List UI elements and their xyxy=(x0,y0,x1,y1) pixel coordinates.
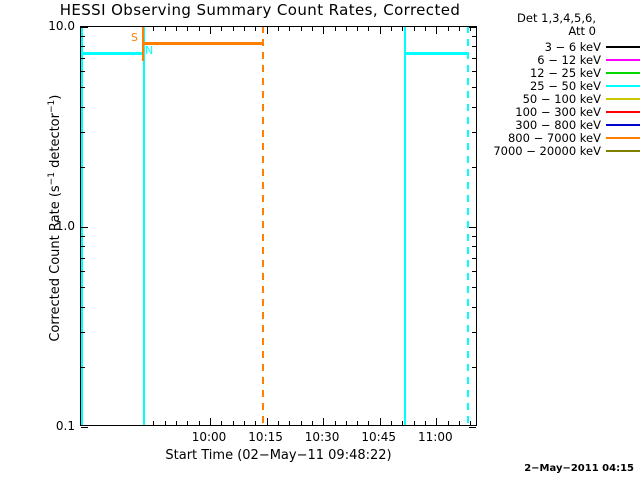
y-axis-minor-tick xyxy=(81,287,85,288)
y-axis-minor-tick xyxy=(81,271,85,272)
legend-entry: 300 − 800 keV xyxy=(484,118,640,131)
x-axis-minor-tick xyxy=(176,27,177,31)
y-axis-major-tick xyxy=(81,27,88,28)
x-axis-minor-tick xyxy=(448,421,449,425)
x-axis-minor-tick xyxy=(278,421,279,425)
x-axis-minor-tick xyxy=(414,27,415,31)
x-axis-major-tick xyxy=(323,418,324,425)
y-axis-minor-tick xyxy=(472,332,476,333)
x-axis-minor-tick xyxy=(402,421,403,425)
y-axis-minor-tick xyxy=(472,236,476,237)
y-axis-minor-tick xyxy=(81,36,85,37)
x-axis-minor-tick xyxy=(368,27,369,31)
legend-entry-label: 7000 − 20000 keV xyxy=(493,144,606,158)
x-axis-minor-tick xyxy=(187,421,188,425)
x-axis-major-tick xyxy=(323,27,324,34)
x-axis-major-tick xyxy=(267,27,268,34)
legend-attenuator: Att 0 xyxy=(484,25,640,38)
y-axis-title: Corrected Count Rate (s−1 detector−1) xyxy=(47,18,63,418)
x-axis-minor-tick xyxy=(448,27,449,31)
legend-entry-label: 100 − 300 keV xyxy=(515,105,606,119)
legend-entry-label: 25 − 50 keV xyxy=(530,79,606,93)
y-axis-minor-tick xyxy=(472,46,476,47)
x-tick-label: 10:45 xyxy=(361,430,396,444)
x-axis-major-tick xyxy=(436,418,437,425)
y-axis-major-tick xyxy=(469,27,476,28)
y-axis-minor-tick xyxy=(81,167,85,168)
y-axis-minor-tick xyxy=(472,258,476,259)
x-axis-minor-tick xyxy=(459,27,460,31)
x-axis-minor-tick xyxy=(289,27,290,31)
y-axis-major-tick xyxy=(81,427,88,428)
y-axis-minor-tick xyxy=(81,367,85,368)
x-axis-minor-tick xyxy=(221,421,222,425)
y-axis-minor-tick xyxy=(472,107,476,108)
x-axis-minor-tick xyxy=(233,421,234,425)
legend-entry-label: 300 − 800 keV xyxy=(515,118,606,132)
legend-color-swatch xyxy=(606,72,640,74)
flag-s: S xyxy=(131,31,138,44)
x-axis-minor-tick xyxy=(165,421,166,425)
legend-entry-label: 50 − 100 keV xyxy=(523,92,606,106)
y-axis-minor-tick xyxy=(81,58,85,59)
flag-n: N xyxy=(145,44,153,57)
legend-entry: 50 − 100 keV xyxy=(484,92,640,105)
x-axis-minor-tick xyxy=(255,27,256,31)
x-axis-minor-tick xyxy=(153,421,154,425)
y-axis-minor-tick xyxy=(472,271,476,272)
x-axis-minor-tick xyxy=(176,421,177,425)
x-tick-label: 10:30 xyxy=(305,430,340,444)
legend-detectors: Det 1,3,4,5,6, xyxy=(484,12,640,25)
y-axis-minor-tick xyxy=(472,132,476,133)
x-axis-minor-tick xyxy=(165,27,166,31)
y-axis-minor-tick xyxy=(472,287,476,288)
legend-color-swatch xyxy=(606,150,640,152)
y-axis-title-mid: detector xyxy=(48,113,63,172)
plot-canvas: HESSI Observing Summary Count Rates, Cor… xyxy=(0,0,640,480)
legend-entry: 12 − 25 keV xyxy=(484,66,640,79)
y-axis-minor-tick xyxy=(81,236,85,237)
y-tick-label: 0.1 xyxy=(56,419,75,433)
x-axis-minor-tick xyxy=(278,27,279,31)
x-axis-minor-tick xyxy=(221,27,222,31)
y-axis-minor-tick xyxy=(472,36,476,37)
plot-frame xyxy=(80,26,477,426)
legend-entry-label: 800 − 7000 keV xyxy=(508,131,606,145)
x-axis-minor-tick xyxy=(312,27,313,31)
x-axis-minor-tick xyxy=(233,27,234,31)
x-axis-minor-tick xyxy=(402,27,403,31)
x-axis-minor-tick xyxy=(368,421,369,425)
x-axis-minor-tick xyxy=(459,421,460,425)
y-axis-minor-tick xyxy=(81,87,85,88)
x-axis-minor-tick xyxy=(391,27,392,31)
y-axis-minor-tick xyxy=(472,167,476,168)
x-axis-minor-tick xyxy=(187,27,188,31)
legend: Det 1,3,4,5,6, Att 0 3 − 6 keV6 − 12 keV… xyxy=(484,12,640,157)
y-axis-major-tick xyxy=(469,427,476,428)
x-axis-minor-tick xyxy=(335,421,336,425)
y-axis-minor-tick xyxy=(81,71,85,72)
y-axis-title-sup-2: −1 xyxy=(47,100,57,113)
x-axis-minor-tick xyxy=(335,27,336,31)
x-tick-label: 10:00 xyxy=(192,430,227,444)
x-axis-major-tick xyxy=(267,418,268,425)
y-axis-minor-tick xyxy=(472,71,476,72)
x-tick-label: 10:15 xyxy=(248,430,283,444)
x-axis-minor-tick xyxy=(391,421,392,425)
x-axis-minor-tick xyxy=(244,421,245,425)
y-axis-minor-tick xyxy=(81,332,85,333)
y-axis-minor-tick xyxy=(81,258,85,259)
x-axis-minor-tick xyxy=(312,421,313,425)
legend-color-swatch xyxy=(606,59,640,61)
x-axis-minor-tick xyxy=(289,421,290,425)
legend-entry-label: 6 − 12 keV xyxy=(537,53,606,67)
x-axis-minor-tick xyxy=(153,27,154,31)
x-axis-major-tick xyxy=(436,27,437,34)
x-axis-major-tick xyxy=(210,27,211,34)
y-axis-minor-tick xyxy=(472,307,476,308)
y-axis-minor-tick xyxy=(81,132,85,133)
x-axis-major-tick xyxy=(380,418,381,425)
x-axis-minor-tick xyxy=(425,421,426,425)
y-axis-minor-tick xyxy=(472,58,476,59)
legend-color-swatch xyxy=(606,46,640,48)
y-axis-major-tick xyxy=(81,227,88,228)
y-axis-minor-tick xyxy=(472,367,476,368)
y-axis-minor-tick xyxy=(81,307,85,308)
legend-color-swatch xyxy=(606,124,640,126)
render-timestamp: 2−May−2011 04:15 xyxy=(524,463,634,474)
legend-color-swatch xyxy=(606,85,640,87)
y-axis-minor-tick xyxy=(81,46,85,47)
y-axis-minor-tick xyxy=(81,107,85,108)
legend-entry: 7000 − 20000 keV xyxy=(484,144,640,157)
legend-color-swatch xyxy=(606,98,640,100)
legend-color-swatch xyxy=(606,111,640,113)
x-axis-minor-tick xyxy=(199,27,200,31)
y-axis-minor-tick xyxy=(472,246,476,247)
y-axis-minor-tick xyxy=(81,246,85,247)
legend-entry: 25 − 50 keV xyxy=(484,79,640,92)
x-axis-major-tick xyxy=(380,27,381,34)
legend-color-swatch xyxy=(606,137,640,139)
legend-entry-label: 3 − 6 keV xyxy=(545,40,606,54)
legend-entry-label: 12 − 25 keV xyxy=(530,66,606,80)
x-axis-minor-tick xyxy=(244,27,245,31)
legend-entry: 800 − 7000 keV xyxy=(484,131,640,144)
x-axis-major-tick xyxy=(210,418,211,425)
legend-entry: 3 − 6 keV xyxy=(484,40,640,53)
x-axis-title: Start Time (02−May−11 09:48:22) xyxy=(80,448,477,463)
x-axis-minor-tick xyxy=(199,421,200,425)
x-axis-minor-tick xyxy=(357,421,358,425)
y-axis-minor-tick xyxy=(472,87,476,88)
y-axis-title-sup-1: −1 xyxy=(47,172,57,185)
legend-entry: 6 − 12 keV xyxy=(484,53,640,66)
legend-entries: 3 − 6 keV6 − 12 keV12 − 25 keV25 − 50 ke… xyxy=(484,40,640,157)
x-axis-minor-tick xyxy=(425,27,426,31)
y-axis-major-tick xyxy=(469,227,476,228)
x-tick-label: 11:00 xyxy=(418,430,453,444)
x-axis-minor-tick xyxy=(301,421,302,425)
page-title: HESSI Observing Summary Count Rates, Cor… xyxy=(0,1,520,19)
y-axis-title-suffix: ) xyxy=(48,95,63,100)
x-axis-minor-tick xyxy=(470,421,471,425)
x-axis-minor-tick xyxy=(301,27,302,31)
x-axis-minor-tick xyxy=(357,27,358,31)
legend-entry: 100 − 300 keV xyxy=(484,105,640,118)
x-axis-minor-tick xyxy=(346,27,347,31)
y-axis-title-text: Corrected Count Rate (s xyxy=(48,185,63,341)
x-axis-minor-tick xyxy=(255,421,256,425)
x-axis-minor-tick xyxy=(346,421,347,425)
x-axis-minor-tick xyxy=(414,421,415,425)
